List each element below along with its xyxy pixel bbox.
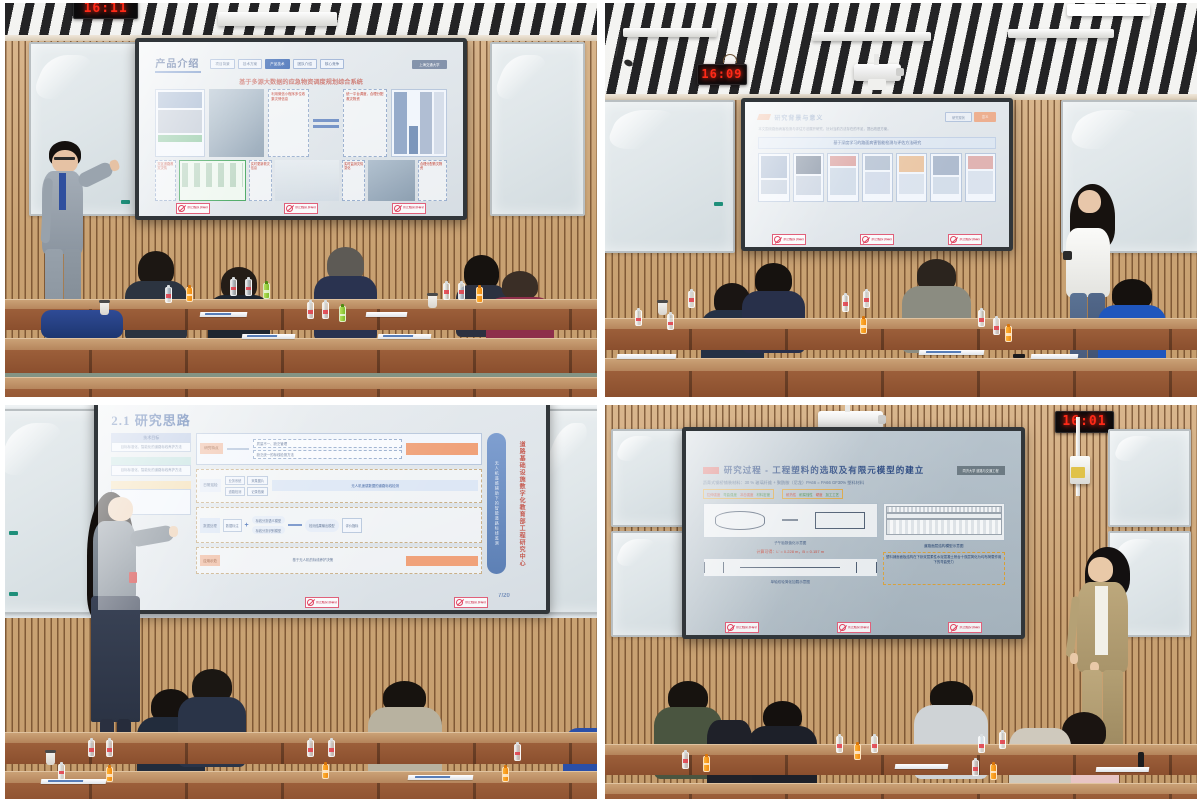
no-touch-sticker: 禁止触摸 屏幕请勿触碰 bbox=[284, 203, 318, 214]
flow-node-group: 目标标准化、智能化的道路标线养护方法 bbox=[111, 457, 191, 475]
slide-subtitle: 沥青式钢桥铺装材料：30 % 玻璃纤维 + 聚酰胺（尼龙）PA66 = PA66… bbox=[703, 480, 1005, 486]
flow-item: 采集图片 bbox=[247, 476, 268, 485]
desk-surface bbox=[605, 744, 1197, 755]
slide-tab-0[interactable]: 研究现状 bbox=[945, 112, 972, 122]
no-touch-sticker: 禁止触摸 屏幕请勿触碰 bbox=[725, 622, 759, 633]
slide-title: 产品介绍 bbox=[155, 55, 201, 70]
slide-callout-3: 实时更新救灾信息 bbox=[249, 160, 272, 201]
flow-arrow-banner bbox=[406, 556, 478, 566]
smartphone bbox=[1013, 354, 1025, 358]
desk-surface bbox=[605, 358, 1197, 372]
presentation-display[interactable]: 研究背景与意义 研究现状 意义 本文围绕路面病害检测与评估方法展开研究，针对当前… bbox=[741, 98, 1013, 252]
water-bottle bbox=[165, 287, 172, 303]
collage-panel-top-right: 16:09 bbox=[605, 3, 1197, 397]
projector-lens bbox=[896, 68, 904, 76]
screen-warning-stickers: 禁止触摸 屏幕请勿触碰 禁止触摸 屏幕请勿触碰 禁止触摸 屏幕请勿触碰 bbox=[745, 234, 1009, 245]
display-surface: 研究过程 - 工程塑料的选取及有限元模型的建立 同济大学 道路与交通工程 沥青式… bbox=[686, 431, 1021, 636]
presenter-jacket bbox=[93, 521, 137, 601]
slide-sidebar: 道路基础设施数字化教育部工程研究中心 bbox=[511, 433, 532, 574]
flow-label-data: 数据处理 bbox=[200, 518, 220, 533]
diagram-caption-left: 子午胎数值化示意图 bbox=[703, 541, 878, 546]
slide-accent-bar bbox=[703, 467, 719, 474]
collage-panel-bottom-left: 2.1 研究思路 技术目标 目标标准化、智能化的道路标线养护方法 bbox=[5, 405, 597, 799]
sticker-text: 禁止触摸 屏幕请勿触碰 bbox=[848, 626, 869, 630]
sticker-text: 禁止触摸 屏幕请勿触碰 bbox=[871, 238, 892, 242]
no-touch-sticker: 禁止触摸 屏幕请勿触碰 bbox=[948, 622, 982, 633]
slide-thumbnail bbox=[896, 153, 927, 203]
no-touch-icon bbox=[774, 236, 781, 243]
projector-mount bbox=[845, 405, 850, 412]
whiteboard-left bbox=[605, 100, 735, 254]
ceiling-light-fixture bbox=[812, 32, 930, 41]
presenter-hand bbox=[1070, 653, 1078, 663]
sticker-text: 禁止触摸 屏幕请勿触碰 bbox=[465, 601, 486, 605]
water-bottle bbox=[836, 736, 843, 753]
water-bottle bbox=[842, 295, 849, 312]
water-bottle bbox=[972, 760, 979, 776]
presenter-skirt bbox=[91, 596, 140, 722]
presentation-display[interactable]: 产品介绍 项目背景 技术方案 产品技术 团队介绍 核心竞争 上海交通大学 bbox=[135, 38, 467, 219]
whiteboard-right bbox=[490, 42, 585, 215]
flow-item: 记录档案 bbox=[247, 487, 268, 496]
lecture-hall-scene: 16:01 bbox=[605, 405, 1197, 799]
marker-pen bbox=[714, 202, 723, 206]
slide-accent-bar bbox=[757, 114, 771, 120]
projector-lens bbox=[878, 415, 886, 424]
desk-row bbox=[5, 377, 597, 397]
wall-clock-display: 16:09 bbox=[697, 64, 747, 84]
document-stack bbox=[40, 779, 106, 784]
water-bottle bbox=[322, 302, 329, 319]
water-bottle bbox=[458, 283, 465, 300]
water-bottle bbox=[307, 740, 314, 757]
diagram-tire-model bbox=[703, 503, 878, 537]
display-surface: 2.1 研究思路 技术目标 目标标准化、智能化的道路标线养护方法 bbox=[98, 405, 546, 610]
slide-photo-disaster bbox=[368, 160, 415, 201]
whiteboard-glare bbox=[5, 423, 67, 475]
water-bottle bbox=[230, 279, 237, 296]
water-bottle bbox=[58, 764, 65, 780]
whiteboard-left bbox=[611, 429, 688, 528]
arrow-right-icon bbox=[227, 448, 249, 450]
slide-tab-1[interactable]: 技术方案 bbox=[238, 59, 262, 69]
document-stack bbox=[407, 775, 473, 780]
ceiling-light-fixture bbox=[218, 12, 336, 26]
slide-tag: 冲击强度 bbox=[740, 492, 754, 497]
slide-tab-3[interactable]: 团队介绍 bbox=[293, 59, 317, 69]
marker-pen bbox=[9, 592, 18, 596]
arrow-left-icon bbox=[313, 119, 339, 122]
slide-phone-mockup bbox=[155, 89, 204, 157]
document-stack bbox=[366, 312, 408, 317]
green-tea-bottle bbox=[263, 283, 270, 299]
thermos-bottle bbox=[1138, 752, 1144, 768]
slide-thumbnail bbox=[862, 153, 893, 203]
presenter-clicker bbox=[129, 572, 138, 583]
no-touch-icon bbox=[178, 205, 185, 212]
ceiling-light-fixture bbox=[1008, 29, 1115, 38]
collage-panel-bottom-right: 16:01 bbox=[605, 405, 1197, 799]
slide-tag: 材料密度 bbox=[756, 492, 770, 497]
document-stack bbox=[616, 354, 676, 359]
arrow-right-icon bbox=[288, 524, 302, 526]
slide-tag: 加工工艺 bbox=[825, 492, 839, 497]
no-touch-sticker: 禁止触摸 屏幕请勿触碰 bbox=[305, 597, 339, 608]
no-touch-sticker: 禁止触摸 屏幕请勿触碰 bbox=[860, 234, 894, 245]
slide-callout-2: 灾区道路救灾灾情 bbox=[155, 160, 175, 201]
vertical-pill-text: 无人机遥感辅助下的智能道路标线监测 bbox=[494, 461, 500, 546]
slide-content: 2.1 研究思路 技术目标 目标标准化、智能化的道路标线养护方法 bbox=[98, 405, 546, 610]
marker-pen bbox=[121, 200, 130, 204]
whiteboard-right bbox=[1108, 429, 1191, 528]
sticker-text: 禁止触摸 屏幕请勿触碰 bbox=[959, 238, 980, 242]
flow-item: 缺乏统一的标线检测方法 bbox=[253, 450, 402, 459]
flow-node-title bbox=[111, 481, 191, 489]
flow-arrow-banner bbox=[406, 443, 478, 455]
sticker-text: 禁止触摸 屏幕请勿触碰 bbox=[736, 626, 757, 630]
presenter-shirt bbox=[1095, 586, 1108, 656]
water-bottle bbox=[993, 318, 1000, 335]
presentation-display[interactable]: 研究过程 - 工程塑料的选取及有限元模型的建立 同济大学 道路与交通工程 沥青式… bbox=[682, 427, 1025, 640]
sticker-text: 禁止触摸 屏幕请勿触碰 bbox=[403, 206, 424, 210]
water-bottle bbox=[978, 736, 985, 753]
no-touch-sticker: 禁止触摸 屏幕请勿触碰 bbox=[392, 203, 426, 214]
no-touch-icon bbox=[307, 599, 314, 606]
slide-dashboard-mockup bbox=[391, 89, 447, 157]
desk-row bbox=[605, 783, 1197, 799]
slide-tab-2-active[interactable]: 产品技术 bbox=[265, 59, 289, 69]
coffee-cup bbox=[46, 752, 55, 765]
slide-thumbnail bbox=[758, 153, 789, 203]
slide-tag: 耐热性 bbox=[786, 492, 796, 497]
orange-juice-bottle bbox=[186, 287, 193, 302]
diagram-caption-right: 道路面层结构模型示意图 bbox=[883, 544, 1005, 549]
whiteboard-glare bbox=[1112, 436, 1158, 461]
desk-surface bbox=[5, 377, 597, 390]
orange-juice-bottle bbox=[990, 764, 997, 780]
diagram-axle-model bbox=[703, 558, 878, 578]
blue-backpack bbox=[41, 310, 124, 338]
document-stack bbox=[895, 764, 949, 769]
water-bottle bbox=[667, 314, 674, 330]
slide-thumbnail bbox=[827, 153, 858, 203]
wall-clock-display: 16:11 bbox=[73, 3, 138, 19]
ceiling bbox=[605, 3, 1197, 98]
water-bottle bbox=[688, 291, 695, 308]
desk-surface bbox=[605, 318, 1197, 329]
presenter-head bbox=[108, 497, 133, 521]
arrow-right-icon bbox=[313, 125, 339, 128]
flow-node-group: 技术目标 目标标准化、智能化的道路标线养护方法 bbox=[111, 433, 191, 452]
presenter-head bbox=[1078, 190, 1101, 214]
slide-sidebar-text: 道路基础设施数字化教育部工程研究中心 bbox=[517, 441, 526, 567]
photo-collage: 16:11 产品介绍 bbox=[0, 0, 1200, 800]
sticker-text: 禁止触摸 屏幕请勿触碰 bbox=[959, 626, 980, 630]
slide-title: 研究过程 - 工程塑料的选取及有限元模型的建立 bbox=[724, 464, 925, 476]
document-stack bbox=[1096, 767, 1150, 772]
coffee-cup bbox=[428, 295, 437, 308]
water-bottle bbox=[443, 283, 450, 300]
slide-content: 产品介绍 项目背景 技术方案 产品技术 团队介绍 核心竞争 上海交通大学 bbox=[139, 42, 463, 215]
slide-tab-0[interactable]: 项目背景 bbox=[210, 59, 234, 69]
lecture-hall-scene: 2.1 研究思路 技术目标 目标标准化、智能化的道路标线养护方法 bbox=[5, 405, 597, 799]
slide-photo-mountain bbox=[209, 89, 264, 157]
screen-warning-stickers: 禁止触摸 屏幕请勿触碰 禁止触摸 屏幕请勿触碰 禁止触摸 屏幕请勿触碰 bbox=[686, 622, 1021, 633]
no-touch-icon bbox=[839, 624, 846, 631]
presenter-hand bbox=[169, 526, 178, 537]
orange-juice-bottle bbox=[854, 744, 861, 760]
slide-callout-4: 实时监测灾情变化 bbox=[342, 160, 365, 201]
clock-time-text: 16:11 bbox=[84, 3, 128, 16]
slide-content: 研究过程 - 工程塑料的选取及有限元模型的建立 同济大学 道路与交通工程 沥青式… bbox=[686, 431, 1021, 636]
flow-item: 检测结果输出模型 bbox=[305, 519, 339, 532]
coffee-cup bbox=[658, 302, 667, 315]
no-touch-sticker: 禁止触摸 屏幕请勿触碰 bbox=[772, 234, 806, 245]
sticker-text: 禁止触摸 屏幕请勿触碰 bbox=[783, 238, 804, 242]
slide-tag: 耐腐蚀性 bbox=[799, 492, 813, 497]
whiteboard-glare bbox=[605, 110, 680, 149]
water-bottle bbox=[863, 291, 870, 308]
sticker-text: 禁止触摸 屏幕请勿触碰 bbox=[187, 206, 208, 210]
water-bottle bbox=[245, 279, 252, 296]
no-touch-icon bbox=[727, 624, 734, 631]
slide-title: 研究背景与意义 bbox=[774, 113, 823, 122]
water-bottle bbox=[871, 736, 878, 753]
wall-clock-display: 16:01 bbox=[1055, 411, 1114, 433]
slide-callout-1: 统一平台调度，合理分配救灾物资 bbox=[343, 89, 387, 157]
orange-juice-bottle bbox=[1005, 326, 1012, 342]
flow-label-research: 研究特点 bbox=[200, 443, 222, 454]
slide-tag: 拉伸强度 bbox=[707, 492, 721, 497]
water-bottle bbox=[88, 740, 95, 757]
flow-node-title bbox=[111, 457, 191, 465]
presenter-necktie bbox=[59, 173, 67, 210]
desk-row bbox=[605, 358, 1197, 397]
sticker-text: 禁止触摸 屏幕请勿触碰 bbox=[295, 206, 316, 210]
lecture-hall-scene: 16:11 产品介绍 bbox=[5, 3, 597, 397]
whiteboard-right bbox=[544, 409, 597, 614]
desk-front-panel bbox=[605, 329, 1197, 350]
flow-node-title: 技术目标 bbox=[111, 433, 191, 442]
screen-warning-stickers: 禁止触摸 屏幕请勿触碰 禁止触摸 屏幕请勿触碰 禁止触摸 屏幕请勿触碰 bbox=[139, 203, 463, 214]
desk-surface bbox=[605, 783, 1197, 794]
diagram-note-right: 塑料铺面面板结构在下卧双层柔性水泥混凝土桥台十双层简化为均布荷载作用下的弯曲受力 bbox=[883, 552, 1005, 585]
whiteboard-glare bbox=[614, 436, 657, 461]
slide-tag: 硬度 bbox=[816, 492, 823, 497]
desk-front-panel bbox=[5, 783, 597, 799]
ceiling-light-fixture bbox=[623, 28, 718, 37]
flow-node-body: 目标标准化、智能化的道路标线养护方法 bbox=[111, 442, 191, 452]
orange-juice-bottle bbox=[860, 318, 867, 334]
slide-tag: 弯曲强度 bbox=[723, 492, 737, 497]
document-stack bbox=[200, 312, 248, 317]
slide-map-thumbnail bbox=[275, 160, 339, 201]
whiteboard-glare bbox=[613, 539, 657, 566]
water-bottle bbox=[999, 732, 1006, 749]
clock-cable bbox=[723, 54, 737, 63]
water-bottle bbox=[682, 752, 689, 769]
plus-icon: + bbox=[245, 522, 249, 529]
document-stack bbox=[1031, 354, 1079, 359]
slide-thumbnail bbox=[965, 153, 996, 203]
water-bottle bbox=[328, 740, 335, 757]
presenter-clicker bbox=[1063, 251, 1072, 260]
coffee-cup bbox=[100, 302, 109, 315]
flow-label-inspection: 日常巡检 bbox=[200, 479, 220, 492]
slide-headline: 基于多源大数据的应急物资调度规划综合系统 bbox=[155, 77, 446, 86]
no-touch-icon bbox=[456, 599, 463, 606]
no-touch-sticker: 禁止触摸 屏幕请勿触碰 bbox=[454, 597, 488, 608]
slide-thumbnail bbox=[793, 153, 824, 203]
flow-item: 标线分割语义模型 bbox=[252, 516, 286, 524]
slide-paragraph: 本文围绕路面病害检测与评估方法展开研究，针对当前方法存在的不足，提出改进方案。 bbox=[758, 127, 996, 132]
whiteboard-glare bbox=[1066, 110, 1145, 149]
no-touch-icon bbox=[950, 624, 957, 631]
desk-front-panel bbox=[605, 794, 1197, 799]
desk-surface bbox=[5, 299, 597, 310]
no-touch-icon bbox=[394, 205, 401, 212]
flow-item: 道路检测 bbox=[225, 487, 246, 496]
screen-warning-stickers: 禁止触摸 屏幕请勿触碰 禁止触摸 屏幕请勿触碰 bbox=[98, 597, 546, 608]
projector-mount bbox=[874, 54, 879, 65]
water-bottle bbox=[635, 310, 642, 326]
clock-time-text: 16:09 bbox=[701, 67, 742, 81]
flow-label-demo: 应用示范 bbox=[200, 555, 220, 566]
whiteboard-left-lower bbox=[611, 531, 688, 637]
green-tea-bottle bbox=[339, 306, 346, 322]
document-stack bbox=[918, 350, 984, 355]
ceiling-slats bbox=[605, 3, 1197, 98]
no-touch-sticker: 禁止触摸 屏幕请勿触碰 bbox=[948, 234, 982, 245]
orange-juice-bottle bbox=[322, 764, 329, 779]
document-stack bbox=[241, 334, 295, 339]
projector-base bbox=[868, 79, 886, 89]
projector-lens bbox=[1071, 467, 1086, 478]
flow-caption: 基于无人机的标线养护决策 bbox=[224, 558, 402, 563]
no-touch-sticker: 禁止触摸 屏幕请勿触碰 bbox=[176, 203, 210, 214]
desk-front-panel bbox=[5, 389, 597, 397]
desk-front-panel bbox=[5, 350, 597, 373]
water-bottle bbox=[106, 740, 113, 757]
flow-item: 质量不一、缺乏管理 bbox=[253, 439, 402, 448]
diagram-pavement-layers bbox=[883, 503, 1005, 541]
flow-item: 业务系统 bbox=[225, 476, 246, 485]
slide-headline: 基于深度学习的路面病害智能检测与评估方法研究 bbox=[758, 137, 996, 149]
diagram-formula: 计算可得：L' = 0.228 m，B = 0.157 m bbox=[703, 549, 878, 555]
slide-title-underline bbox=[155, 71, 201, 73]
sticker-text: 禁止触摸 屏幕请勿触碰 bbox=[316, 601, 337, 605]
ceiling-projector bbox=[818, 411, 883, 429]
skylight-panel bbox=[1067, 4, 1150, 16]
slide-badge: 上海交通大学 bbox=[412, 60, 446, 69]
flow-item: 评价指标 bbox=[342, 518, 363, 533]
glasses-icon bbox=[54, 157, 75, 160]
no-touch-icon bbox=[286, 205, 293, 212]
orange-juice-bottle bbox=[106, 767, 113, 782]
slide-title: 2.1 研究思路 bbox=[111, 410, 532, 429]
water-bottle bbox=[514, 744, 521, 761]
slide-map-panel bbox=[179, 160, 246, 201]
collage-panel-top-left: 16:11 产品介绍 bbox=[5, 3, 597, 397]
no-touch-icon bbox=[862, 236, 869, 243]
slide-content: 研究背景与意义 研究现状 意义 本文围绕路面病害检测与评估方法展开研究，针对当前… bbox=[745, 102, 1009, 248]
slide-callout-5: 合理分配救灾物资 bbox=[418, 160, 447, 201]
flow-node-body: 目标标准化、智能化的道路标线养护方法 bbox=[111, 465, 191, 475]
display-surface: 产品介绍 项目背景 技术方案 产品技术 团队介绍 核心竞争 上海交通大学 bbox=[139, 42, 463, 215]
orange-juice-bottle bbox=[476, 287, 483, 303]
orange-juice-bottle bbox=[502, 767, 509, 782]
whiteboard-glare bbox=[30, 55, 96, 99]
diagram-caption-bottom: 单轴双轮简化加载示意图 bbox=[703, 580, 878, 585]
desk-surface bbox=[5, 338, 597, 351]
whiteboard-glare bbox=[491, 55, 551, 99]
ceiling-projector bbox=[854, 64, 901, 81]
marker-pen bbox=[9, 531, 18, 535]
slide-badge: 同济大学 道路与交通工程 bbox=[957, 466, 1005, 475]
clock-time-text: 16:01 bbox=[1062, 414, 1106, 429]
water-bottle bbox=[978, 310, 985, 327]
water-bottle bbox=[307, 302, 314, 319]
flow-item: 数据标注 bbox=[223, 519, 242, 532]
flow-banner: 无人机遥感数据的道路标线检测 bbox=[272, 480, 478, 491]
secondary-projector bbox=[1070, 456, 1091, 484]
vertical-pill-banner: 无人机遥感辅助下的智能道路标线监测 bbox=[487, 433, 506, 574]
slide-tab-1-active[interactable]: 意义 bbox=[974, 112, 996, 122]
flow-item: 标线分割识别模型 bbox=[252, 526, 286, 534]
no-touch-sticker: 禁止触摸 屏幕请勿触碰 bbox=[837, 622, 871, 633]
desk-front-panel bbox=[605, 371, 1197, 397]
presenter-head bbox=[52, 150, 78, 174]
slide-thumbnail bbox=[930, 153, 961, 203]
lecture-hall-scene: 16:09 bbox=[605, 3, 1197, 397]
no-touch-icon bbox=[950, 236, 957, 243]
slide-callout-0: 利用微信小程序多位收集灾情信息 bbox=[268, 89, 309, 157]
document-stack bbox=[378, 334, 432, 339]
desk-row bbox=[605, 318, 1197, 350]
desk-row bbox=[5, 338, 597, 373]
slide-tab-4[interactable]: 核心竞争 bbox=[320, 59, 344, 69]
orange-juice-bottle bbox=[703, 756, 710, 772]
presenter-head bbox=[1088, 557, 1113, 582]
display-surface: 研究背景与意义 研究现状 意义 本文围绕路面病害检测与评估方法展开研究，针对当前… bbox=[745, 102, 1009, 248]
